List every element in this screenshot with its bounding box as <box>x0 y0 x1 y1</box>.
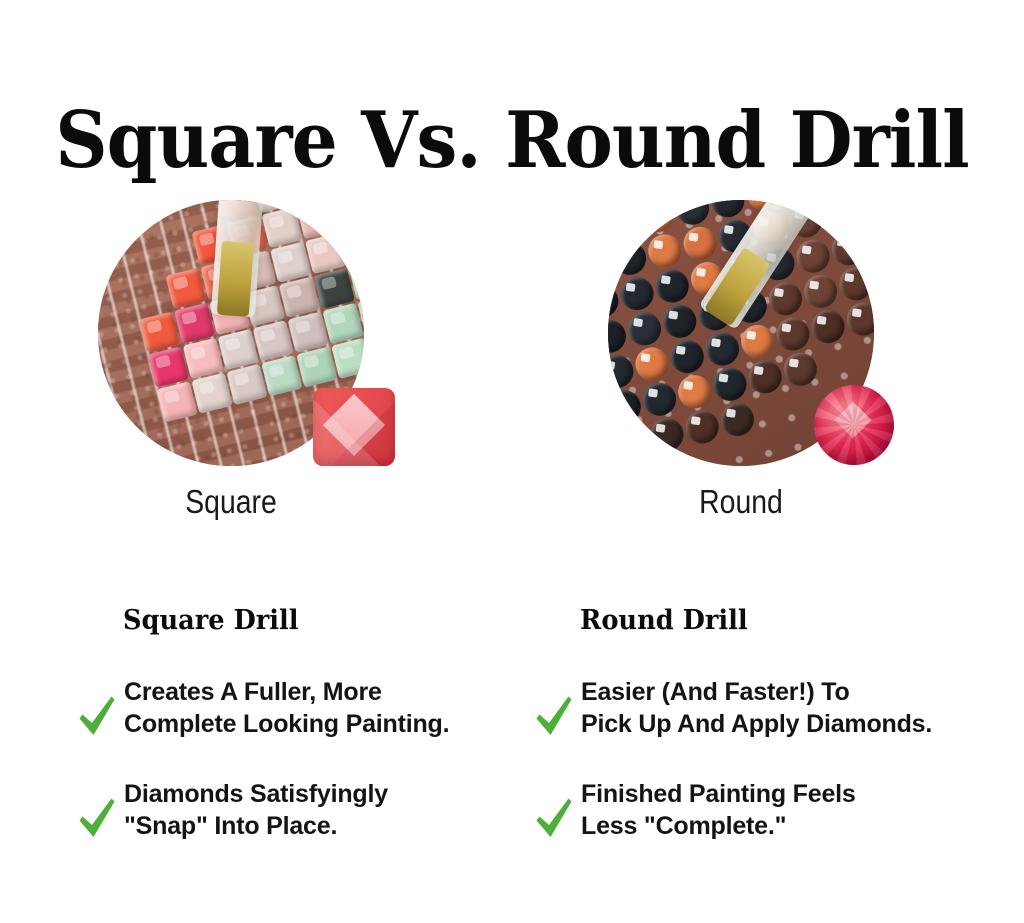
list-item-label: Diamonds Satisfyingly "Snap" Into Place. <box>124 778 388 842</box>
check-icon <box>78 694 116 738</box>
loose-round-drill-gem <box>814 385 894 465</box>
check-icon <box>78 796 116 840</box>
loose-square-drill-gem <box>313 388 395 466</box>
round-drill-heading: Round Drill <box>580 604 955 638</box>
list-item: Creates A Fuller, More Complete Looking … <box>78 676 518 740</box>
photo-comparison-row <box>0 200 1024 470</box>
pen-wax-tip <box>217 241 254 317</box>
list-item: Diamonds Satisfyingly "Snap" Into Place. <box>78 778 518 842</box>
list-item: Finished Painting Feels Less "Complete." <box>535 778 975 842</box>
round-drill-column: Round Drill Easier (And Faster!) To Pick… <box>535 604 975 842</box>
square-photo-slot <box>98 200 428 470</box>
check-icon <box>535 796 573 840</box>
pros-columns: Square Drill Creates A Fuller, More Comp… <box>0 604 1024 884</box>
round-photo-slot <box>608 200 938 470</box>
photo-captions: Square Round <box>0 482 1024 528</box>
list-item-label: Creates A Fuller, More Complete Looking … <box>124 676 449 740</box>
list-item: Easier (And Faster!) To Pick Up And Appl… <box>535 676 975 740</box>
caption-square: Square <box>117 482 346 522</box>
check-icon <box>535 694 573 738</box>
page-title: Square Vs. Round Drill <box>36 98 988 184</box>
caption-round: Round <box>627 482 856 522</box>
list-item-label: Finished Painting Feels Less "Complete." <box>581 778 856 842</box>
square-drill-heading: Square Drill <box>123 604 498 638</box>
list-item-label: Easier (And Faster!) To Pick Up And Appl… <box>581 676 932 740</box>
square-drill-column: Square Drill Creates A Fuller, More Comp… <box>78 604 518 842</box>
